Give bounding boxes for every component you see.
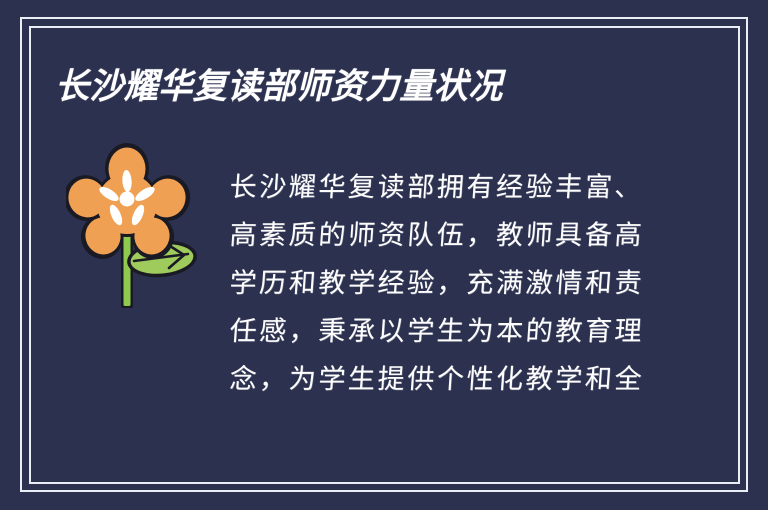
body-paragraph: 长沙耀华复读部拥有经验丰富、 高素质的师资队伍，教师具备高 学历和教学经验，充满…	[228, 163, 658, 403]
flower-illustration	[66, 142, 198, 312]
body-line: 长沙耀华复读部拥有经验丰富、	[228, 163, 661, 211]
body-line: 学历和教学经验，充满激情和责	[228, 259, 661, 307]
info-card: 长沙耀华复读部师资力量状况	[0, 0, 768, 510]
page-title: 长沙耀华复读部师资力量状况	[55, 66, 503, 108]
body-line: 高素质的师资队伍，教师具备高	[228, 211, 661, 259]
body-line: 任感，秉承以学生为本的教育理	[228, 307, 661, 355]
body-line: 念，为学生提供个性化教学和全	[228, 355, 661, 403]
